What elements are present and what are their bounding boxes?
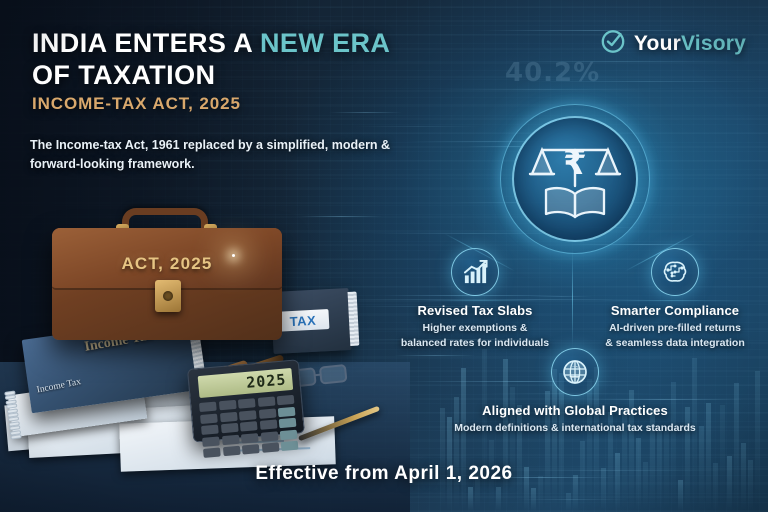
feature-subtitle: Modern definitions & international tax s… [450, 421, 700, 436]
binder-label: TAX [276, 309, 329, 332]
briefcase-clasp [155, 280, 181, 312]
background-streak [329, 112, 402, 113]
feature-subtitle-line1: Modern definitions & international tax s… [454, 422, 696, 434]
infographic-poster: 40.2% Income Tax Act Income Tax TAX [0, 0, 768, 512]
book-spine-label: Income Tax [36, 377, 82, 395]
feature-subtitle-line1: Higher exemptions & [422, 322, 527, 334]
feature-subtitle: Higher exemptions & balanced rates for i… [385, 321, 565, 351]
headline-line1-a: INDIA ENTERS A [32, 28, 260, 58]
light-glint [232, 254, 235, 257]
lens-right [319, 364, 348, 385]
effective-date-banner: Effective from April 1, 2026 [0, 463, 768, 485]
background-streak [516, 499, 627, 500]
feature-revised-tax-slabs[interactable]: Revised Tax Slabs Higher exemptions & ba… [385, 248, 565, 351]
feature-smarter-compliance[interactable]: Smarter Compliance AI-driven pre-filled … [585, 248, 765, 351]
page-subtitle: INCOME-TAX ACT, 2025 [32, 94, 241, 114]
briefcase-label: ACT, 2025 [52, 254, 282, 274]
calculator: 2025 [187, 359, 305, 442]
briefcase: ACT, 2025 [52, 228, 282, 340]
central-emblem: ₹ [500, 104, 650, 254]
feature-subtitle: AI-driven pre-filled returns & seamless … [585, 321, 765, 351]
scales-of-justice-rupee-book-icon: ₹ [526, 130, 624, 228]
binder-pages [348, 292, 360, 346]
brand-name: YourVisory [634, 32, 746, 56]
page-title: INDIA ENTERS A NEW ERA OF TAXATION [32, 28, 462, 91]
calculator-keys [199, 395, 298, 458]
feature-title: Smarter Compliance [585, 303, 765, 318]
circle-check-icon [600, 28, 626, 59]
tax-binder: TAX [270, 288, 351, 354]
brand-name-primary: Your [634, 32, 681, 55]
bar-chart-growth-icon [451, 248, 499, 296]
feature-aligned-global-practices[interactable]: Aligned with Global Practices Modern def… [450, 348, 700, 436]
lede-paragraph: The Income-tax Act, 1961 replaced by a s… [30, 136, 400, 175]
calculator-display: 2025 [198, 368, 294, 398]
feature-subtitle-line1: AI-driven pre-filled returns [609, 322, 741, 334]
svg-text:₹: ₹ [563, 143, 587, 183]
background-streak [354, 126, 482, 127]
brand-name-secondary: Visory [681, 32, 746, 55]
feature-title: Revised Tax Slabs [385, 303, 565, 318]
brand-logo[interactable]: YourVisory [600, 28, 746, 59]
ai-brain-circuit-icon [651, 248, 699, 296]
headline-line2: OF TAXATION [32, 60, 215, 90]
globe-icon [551, 348, 599, 396]
headline-accent: NEW ERA [260, 28, 390, 58]
feature-title: Aligned with Global Practices [450, 403, 700, 418]
